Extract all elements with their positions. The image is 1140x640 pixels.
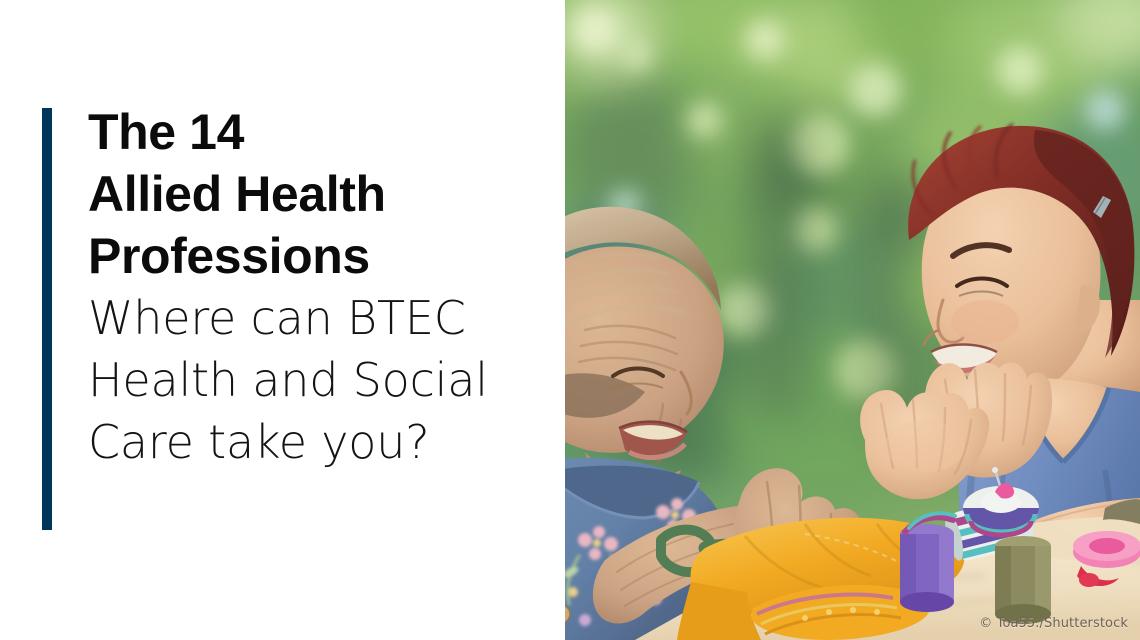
photo-panel: © Toa55./Shutterstock (565, 0, 1140, 640)
headline-line-2: Allied Health (88, 163, 548, 225)
subhead-line-1: Where can BTEC (88, 287, 548, 349)
subhead-line-3: Care take you? (88, 411, 548, 473)
subhead-line-2: Health and Social (88, 349, 548, 411)
caregiver-photo (565, 0, 1140, 640)
headline-line-3: Professions (88, 225, 548, 287)
photo-credit: © Toa55./Shutterstock (979, 616, 1128, 631)
text-panel: The 14 Allied Health Professions Where c… (0, 0, 565, 640)
headline-line-1: The 14 (88, 101, 548, 163)
headline-block: The 14 Allied Health Professions Where c… (88, 101, 548, 473)
allied-health-banner: The 14 Allied Health Professions Where c… (0, 0, 1140, 640)
vertical-accent-bar (42, 108, 52, 530)
